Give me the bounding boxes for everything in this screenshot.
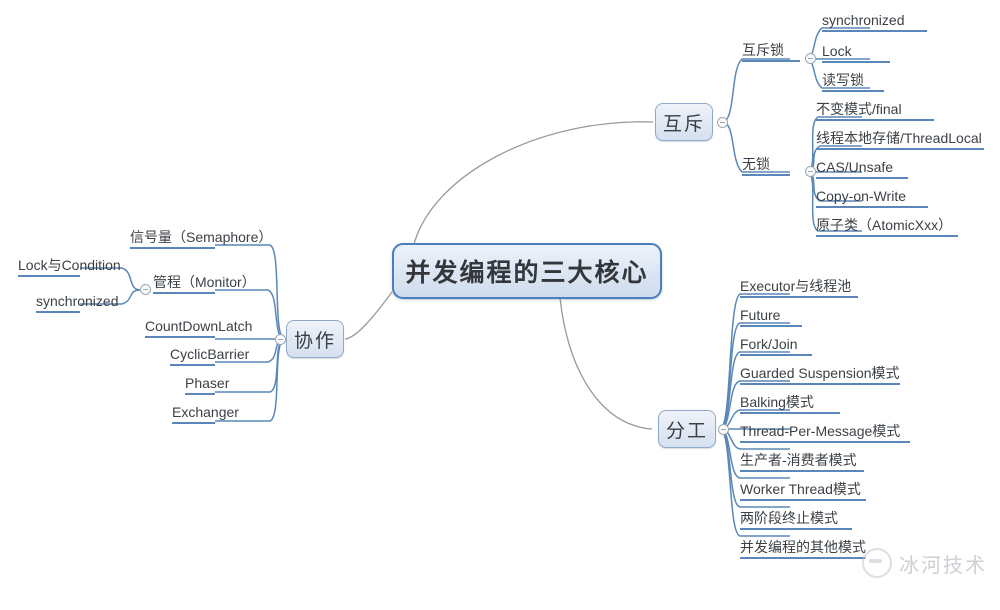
node-underline — [822, 30, 927, 32]
branch-node-mutex[interactable]: 互斥 — [655, 103, 713, 141]
node-atomic-classes-label: 原子类（AtomicXxx） — [816, 217, 952, 233]
node-phaser-label: Phaser — [185, 375, 229, 391]
smiley-circle-icon — [862, 548, 892, 578]
node-phaser[interactable]: Phaser — [185, 374, 215, 395]
node-lock-condition-label: Lock与Condition — [18, 257, 121, 273]
watermark: 冰河技术 — [862, 548, 987, 578]
node-threadlocal-label: 线程本地存储/ThreadLocal — [816, 130, 982, 146]
node-copy-on-write[interactable]: Copy-on-Write — [816, 187, 928, 208]
node-cyclicbarrier[interactable]: CyclicBarrier — [170, 345, 215, 366]
node-underline — [153, 292, 215, 294]
node-lockfree[interactable]: 无锁 — [742, 155, 790, 176]
node-underline — [740, 354, 812, 356]
node-other-patterns-label: 并发编程的其他模式 — [740, 539, 866, 555]
node-lockfree-label: 无锁 — [742, 156, 770, 172]
node-underline — [172, 422, 215, 424]
node-semaphore-label: 信号量（Semaphore） — [130, 229, 272, 245]
node-underline — [822, 90, 884, 92]
collapse-toggle-division[interactable] — [718, 424, 729, 435]
node-mutex-lock-label: 互斥锁 — [742, 42, 784, 58]
root-node-label: 并发编程的三大核心 — [405, 253, 648, 289]
node-copy-on-write-label: Copy-on-Write — [816, 188, 906, 204]
node-cas-unsafe[interactable]: CAS/Unsafe — [816, 158, 908, 179]
node-underline — [185, 393, 215, 395]
mindmap-canvas: 并发编程的三大核心 互斥 互斥锁 synchronized Lock 读写锁 无… — [0, 0, 1000, 610]
node-underline — [740, 296, 858, 298]
branch-node-division-label: 分工 — [666, 416, 708, 443]
node-balking-label: Balking模式 — [740, 394, 814, 410]
node-fork-join[interactable]: Fork/Join — [740, 335, 812, 356]
node-exchanger-label: Exchanger — [172, 404, 239, 420]
node-cyclicbarrier-label: CyclicBarrier — [170, 346, 249, 362]
node-synchronized-label: synchronized — [822, 12, 905, 28]
node-underline — [816, 235, 958, 237]
collapse-toggle-monitor[interactable] — [140, 284, 151, 295]
collapse-toggle-cooperation[interactable] — [275, 334, 286, 345]
node-underline — [742, 60, 800, 62]
branch-node-mutex-label: 互斥 — [663, 109, 705, 136]
node-executor-threadpool-label: Executor与线程池 — [740, 278, 851, 294]
node-readwrite-lock-label: 读写锁 — [822, 72, 864, 88]
node-guarded-suspension[interactable]: Guarded Suspension模式 — [740, 364, 900, 385]
node-underline — [740, 412, 840, 414]
node-future[interactable]: Future — [740, 306, 802, 327]
node-monitor-label: 管程（Monitor） — [153, 274, 256, 290]
node-underline — [145, 336, 215, 338]
watermark-text: 冰河技术 — [899, 549, 987, 578]
node-semaphore[interactable]: 信号量（Semaphore） — [130, 228, 215, 249]
node-guarded-suspension-label: Guarded Suspension模式 — [740, 365, 900, 381]
node-exchanger[interactable]: Exchanger — [172, 403, 215, 424]
node-synchronized-monitor[interactable]: synchronized — [36, 292, 80, 313]
node-readwrite-lock[interactable]: 读写锁 — [822, 71, 884, 92]
node-synchronized-monitor-label: synchronized — [36, 293, 119, 309]
node-underline — [740, 441, 910, 443]
node-atomic-classes[interactable]: 原子类（AtomicXxx） — [816, 216, 958, 237]
node-balking[interactable]: Balking模式 — [740, 393, 840, 414]
root-node[interactable]: 并发编程的三大核心 — [392, 243, 662, 299]
node-fork-join-label: Fork/Join — [740, 336, 798, 352]
node-countdownlatch-label: CountDownLatch — [145, 318, 252, 334]
node-underline — [170, 364, 215, 366]
node-underline — [740, 383, 900, 385]
node-immutable-final-label: 不变模式/final — [816, 101, 902, 117]
node-countdownlatch[interactable]: CountDownLatch — [145, 317, 215, 338]
node-future-label: Future — [740, 307, 780, 323]
branch-node-division[interactable]: 分工 — [658, 410, 716, 448]
node-worker-thread[interactable]: Worker Thread模式 — [740, 480, 866, 501]
node-underline — [740, 499, 866, 501]
node-executor-threadpool[interactable]: Executor与线程池 — [740, 277, 858, 298]
node-two-phase-termination-label: 两阶段终止模式 — [740, 510, 838, 526]
node-two-phase-termination[interactable]: 两阶段终止模式 — [740, 509, 852, 530]
branch-node-cooperation[interactable]: 协作 — [286, 320, 344, 358]
node-lock-label: Lock — [822, 43, 852, 59]
node-underline — [816, 119, 934, 121]
node-mutex-lock[interactable]: 互斥锁 — [742, 41, 800, 62]
node-producer-consumer[interactable]: 生产者-消费者模式 — [740, 451, 864, 472]
node-other-patterns[interactable]: 并发编程的其他模式 — [740, 538, 866, 559]
collapse-toggle-lockfree[interactable] — [805, 166, 816, 177]
node-underline — [36, 311, 80, 313]
node-underline — [816, 148, 984, 150]
node-producer-consumer-label: 生产者-消费者模式 — [740, 452, 857, 468]
node-cas-unsafe-label: CAS/Unsafe — [816, 159, 893, 175]
node-synchronized[interactable]: synchronized — [822, 11, 927, 32]
node-underline — [816, 206, 928, 208]
node-thread-per-message[interactable]: Thread-Per-Message模式 — [740, 422, 910, 443]
node-underline — [130, 247, 215, 249]
node-thread-per-message-label: Thread-Per-Message模式 — [740, 423, 900, 439]
node-underline — [822, 61, 890, 63]
node-underline — [740, 557, 866, 559]
node-underline — [742, 174, 790, 176]
collapse-toggle-mutex[interactable] — [717, 117, 728, 128]
node-monitor[interactable]: 管程（Monitor） — [153, 273, 215, 294]
node-lock-condition[interactable]: Lock与Condition — [18, 256, 80, 277]
collapse-toggle-mutex-lock[interactable] — [805, 53, 816, 64]
branch-node-cooperation-label: 协作 — [294, 326, 336, 353]
node-underline — [18, 275, 80, 277]
node-worker-thread-label: Worker Thread模式 — [740, 481, 861, 497]
node-underline — [816, 177, 908, 179]
node-immutable-final[interactable]: 不变模式/final — [816, 100, 934, 121]
node-underline — [740, 528, 852, 530]
node-underline — [740, 325, 802, 327]
node-lock[interactable]: Lock — [822, 42, 890, 63]
node-threadlocal[interactable]: 线程本地存储/ThreadLocal — [816, 129, 984, 150]
node-underline — [740, 470, 864, 472]
